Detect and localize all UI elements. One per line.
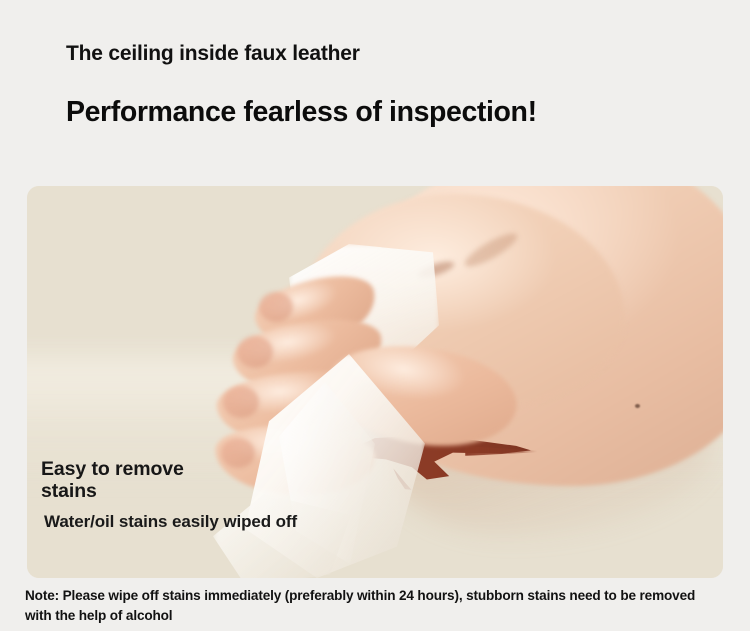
- hand-wiping-stain-photo: Easy to remove stains Water/oil stains e…: [27, 186, 723, 578]
- page-title: The ceiling inside faux leather: [66, 42, 706, 65]
- photo-caption-main: Easy to remove stains: [41, 458, 184, 502]
- fingernail: [223, 386, 259, 418]
- fingernail: [259, 292, 293, 322]
- fingernail: [237, 336, 273, 368]
- page-subtitle: Performance fearless of inspection!: [66, 97, 706, 128]
- skin-mole: [635, 404, 640, 408]
- care-instruction-note: Note: Please wipe off stains immediately…: [25, 586, 715, 625]
- fingernail: [221, 438, 255, 468]
- photo-caption-sub: Water/oil stains easily wiped off: [44, 512, 297, 532]
- heading-block: The ceiling inside faux leather Performa…: [66, 42, 706, 128]
- product-feature-page: The ceiling inside faux leather Performa…: [0, 0, 750, 631]
